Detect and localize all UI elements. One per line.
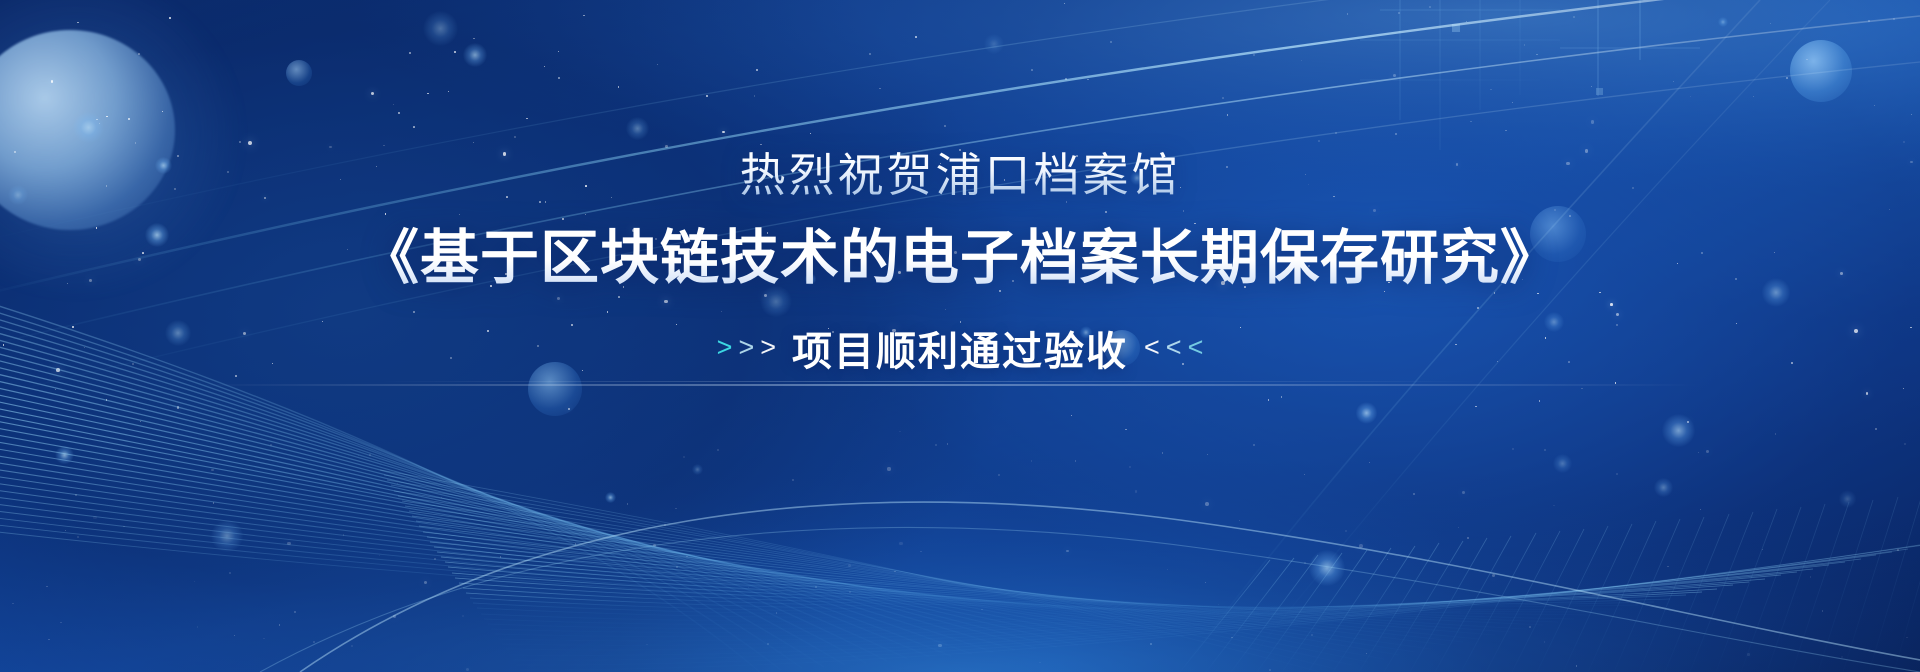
chevron-2: > [738, 334, 754, 361]
chevron-6: < [1188, 334, 1204, 361]
headline-main: 《基于区块链技术的电子档案长期保存研究》 [360, 224, 1560, 292]
chevron-3: > [760, 334, 776, 361]
chevron-5: < [1166, 334, 1182, 361]
subline-row: > > > 项目顺利通过验收 < < < [717, 319, 1204, 377]
banner-content: 热烈祝贺浦口档案馆 《基于区块链技术的电子档案长期保存研究》 > > > 项目顺… [0, 0, 1920, 672]
subline-text: 项目顺利通过验收 [792, 319, 1128, 377]
chevron-left-right-icon: < < < [1144, 334, 1203, 361]
headline-small: 热烈祝贺浦口档案馆 [740, 148, 1181, 202]
chevron-4: < [1144, 334, 1160, 361]
chevron-1: > [717, 334, 733, 361]
chevron-right-left-icon: > > > [717, 334, 776, 361]
celebration-banner: 热烈祝贺浦口档案馆 《基于区块链技术的电子档案长期保存研究》 > > > 项目顺… [0, 0, 1920, 672]
